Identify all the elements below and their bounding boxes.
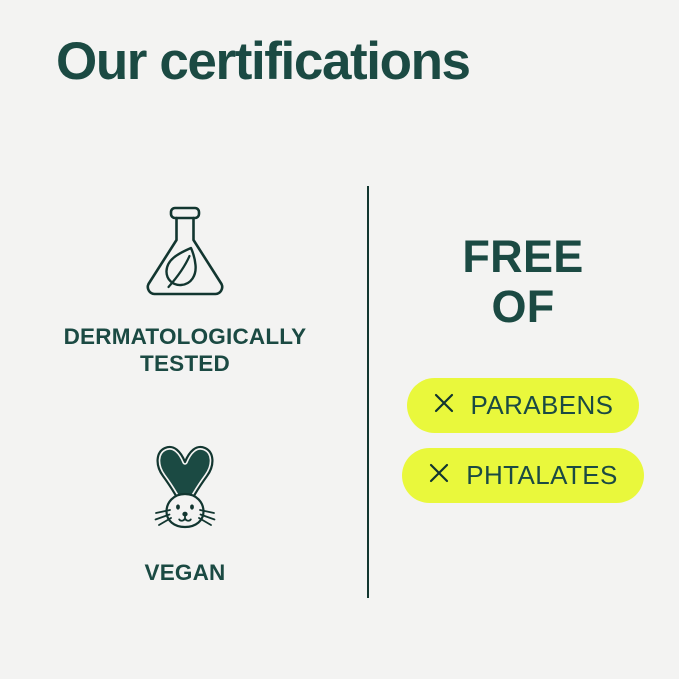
- free-of-column: FREE OF PARABENS PHTALATES: [383, 232, 663, 503]
- free-of-heading-line2: OF: [462, 282, 583, 332]
- flask-leaf-icon: [131, 196, 239, 309]
- certification-label-line1: DERMATOLOGICALLY: [64, 323, 307, 350]
- certifications-panel: Our certifications DERMATOLOGICALLY: [0, 0, 679, 679]
- certification-label-line1: VEGAN: [144, 559, 225, 586]
- free-of-heading: FREE OF: [462, 232, 583, 333]
- certification-item-dermatologically-tested: DERMATOLOGICALLY TESTED: [64, 196, 307, 378]
- x-icon: [433, 392, 455, 419]
- free-of-badge-label: PARABENS: [471, 390, 614, 421]
- certifications-column: DERMATOLOGICALLY TESTED: [20, 196, 350, 586]
- free-of-badge-label: PHTALATES: [466, 460, 617, 491]
- free-of-badge-parabens[interactable]: PARABENS: [407, 378, 640, 433]
- certification-item-vegan: VEGAN: [131, 432, 239, 586]
- certification-label: DERMATOLOGICALLY TESTED: [64, 323, 307, 378]
- x-icon: [428, 462, 450, 489]
- free-of-heading-line1: FREE: [462, 232, 583, 282]
- certification-label-line2: TESTED: [64, 350, 307, 377]
- free-of-list: PARABENS PHTALATES: [402, 378, 643, 503]
- column-divider: [367, 186, 369, 598]
- free-of-badge-phtalates[interactable]: PHTALATES: [402, 448, 643, 503]
- bunny-heart-icon: [131, 432, 239, 545]
- certification-label: VEGAN: [144, 559, 225, 586]
- page-title: Our certifications: [56, 33, 470, 91]
